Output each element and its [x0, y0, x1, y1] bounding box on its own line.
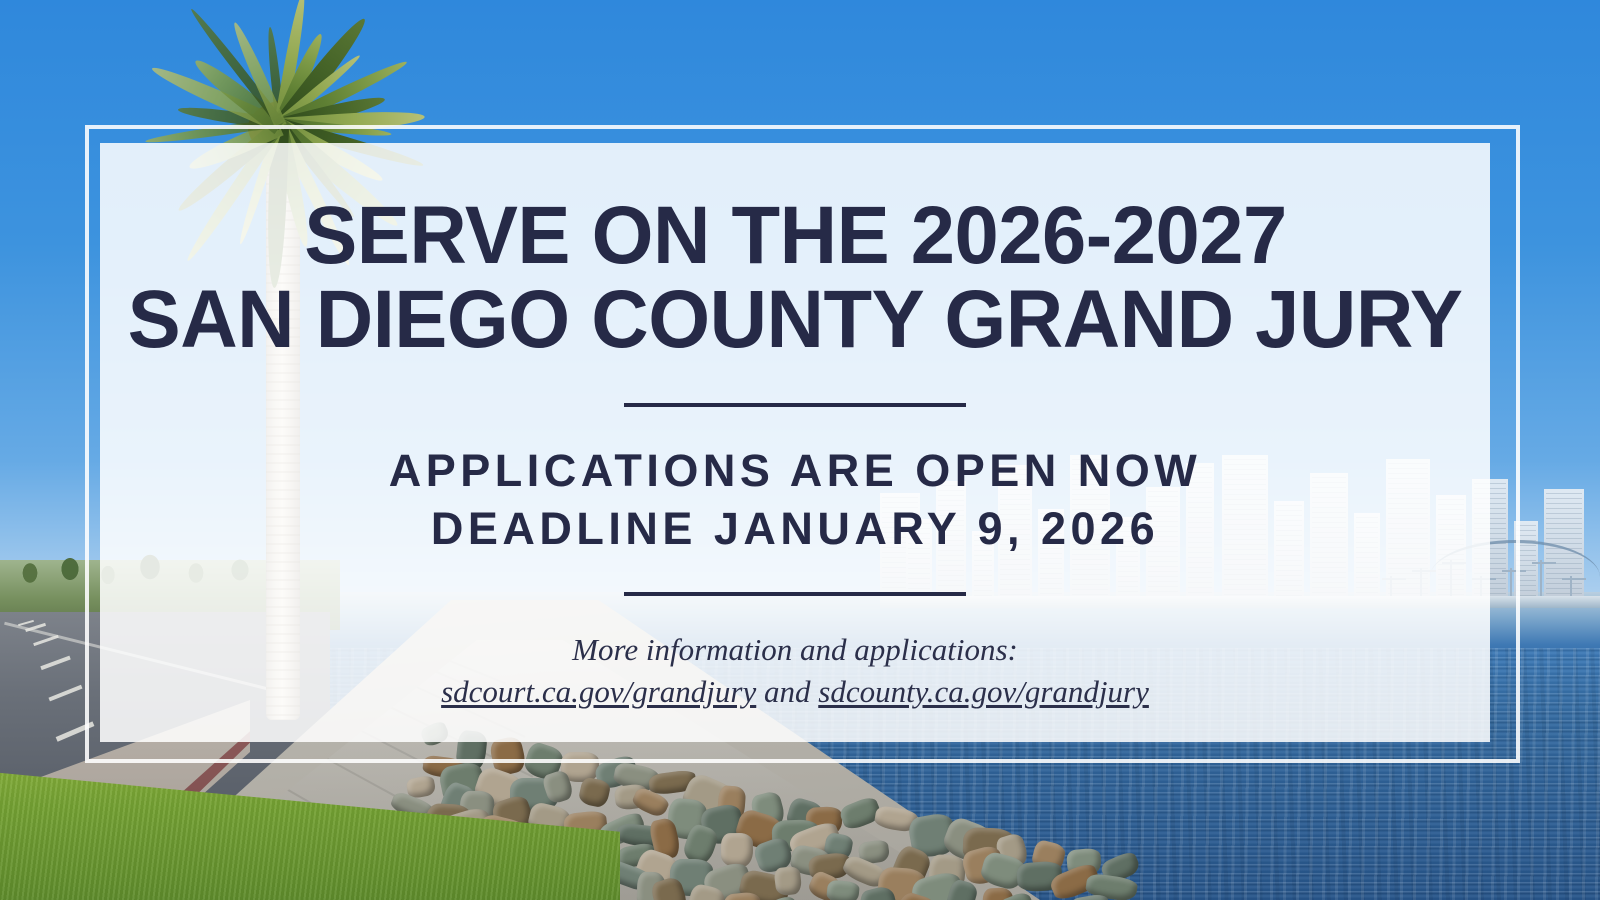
- divider-upper: [624, 403, 966, 407]
- footer-intro-text: More information and applications:: [572, 630, 1018, 670]
- subheadline-deadline: DEADLINE JANUARY 9, 2026: [431, 501, 1159, 558]
- footer-links-row: sdcourt.ca.gov/grandjury and sdcounty.ca…: [441, 672, 1149, 712]
- poster-canvas: SERVE ON THE 2026-2027 SAN DIEGO COUNTY …: [0, 0, 1600, 900]
- headline-line-1: SERVE ON THE 2026-2027: [304, 197, 1287, 275]
- link-sdcounty-grandjury[interactable]: sdcounty.ca.gov/grandjury: [818, 674, 1149, 709]
- poster-content: SERVE ON THE 2026-2027 SAN DIEGO COUNTY …: [100, 143, 1490, 742]
- subheadline-applications-open: APPLICATIONS ARE OPEN NOW: [389, 443, 1202, 500]
- headline-line-2: SAN DIEGO COUNTY GRAND JURY: [128, 281, 1463, 359]
- link-sdcourt-grandjury[interactable]: sdcourt.ca.gov/grandjury: [441, 674, 756, 709]
- divider-lower: [624, 592, 966, 596]
- footer-conjunction: and: [756, 674, 818, 709]
